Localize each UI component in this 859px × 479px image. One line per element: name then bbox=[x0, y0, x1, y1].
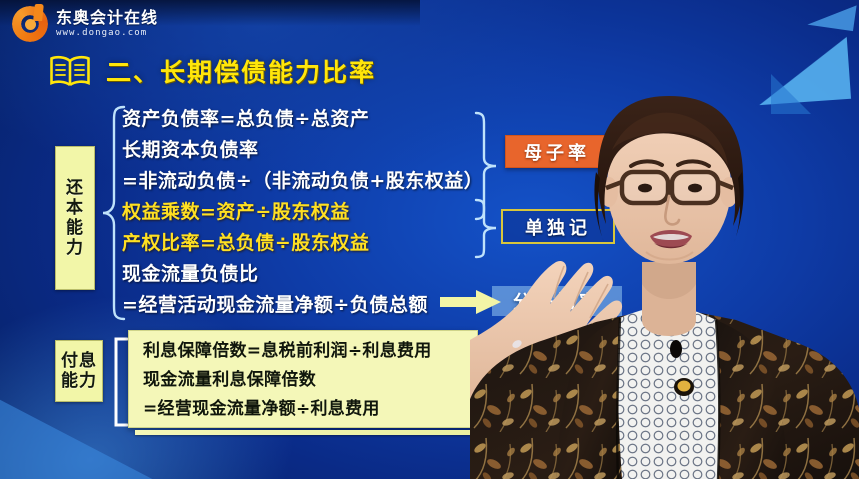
category-char: 力 bbox=[66, 238, 84, 258]
brand-name: 东奥会计在线 bbox=[56, 10, 158, 26]
formula-row: 现金流量利息保障倍数 bbox=[143, 366, 477, 395]
slide-stage: 东奥会计在线 www.dongao.com 二、长期偿债能力比率 还 本 能 bbox=[0, 0, 859, 479]
tag-mother-child-ratio: 母子率 bbox=[505, 135, 609, 168]
bottom-divider bbox=[135, 430, 485, 435]
brace-right-bottom-group bbox=[486, 338, 512, 428]
formula-row: 产权比率=总负债÷股东权益 bbox=[122, 228, 492, 259]
category-char: 还 bbox=[66, 178, 84, 198]
decorative-triangle-third-icon bbox=[771, 74, 811, 114]
page-title: 二、长期偿债能力比率 bbox=[106, 53, 376, 89]
category-label-pay-interest: 付息 能力 bbox=[55, 340, 103, 402]
formula-row: 长期资本负债率 bbox=[122, 135, 492, 166]
brand-logo: 东奥会计在线 www.dongao.com bbox=[12, 6, 158, 42]
tag-memorize-separately: 单独记 bbox=[501, 209, 615, 244]
formula-row: 利息保障倍数=息税前利润÷利息费用 bbox=[143, 337, 477, 366]
open-book-icon bbox=[48, 54, 92, 88]
formula-list-top: 资产负债率=总负债÷总资产 长期资本负债率 =非流动负债÷（非流动负债+股东权益… bbox=[122, 104, 492, 321]
category-line: 付息 bbox=[61, 351, 97, 371]
category-label-repay-principal: 还 本 能 力 bbox=[55, 146, 95, 290]
formula-row: =非流动负债÷（非流动负债+股东权益） bbox=[122, 166, 492, 197]
brand-url: www.dongao.com bbox=[56, 29, 158, 38]
formula-row: =经营活动现金流量净额÷负债总额 bbox=[122, 290, 492, 321]
formula-list-bottom: 利息保障倍数=息税前利润÷利息费用 现金流量利息保障倍数 =经营现金流量净额÷利… bbox=[128, 330, 478, 428]
decorative-triangle-small-icon bbox=[807, 0, 856, 31]
category-char: 能 bbox=[66, 218, 84, 238]
tag-numerator-ratio: 分子比率 bbox=[492, 286, 622, 316]
formula-row: 现金流量负债比 bbox=[122, 259, 492, 290]
right-arrow-icon bbox=[440, 289, 502, 315]
category-char: 本 bbox=[66, 198, 84, 218]
formula-row: 权益乘数=资产÷股东权益 bbox=[122, 197, 492, 228]
dongao-circular-d-logo-icon bbox=[12, 6, 48, 42]
category-line: 能力 bbox=[61, 371, 97, 391]
slide-heading: 二、长期偿债能力比率 bbox=[48, 53, 376, 89]
formula-row: 资产负债率=总负债÷总资产 bbox=[122, 104, 492, 135]
brace-left-bottom-group bbox=[108, 336, 130, 428]
formula-row: =经营现金流量净额÷利息费用 bbox=[143, 395, 477, 424]
